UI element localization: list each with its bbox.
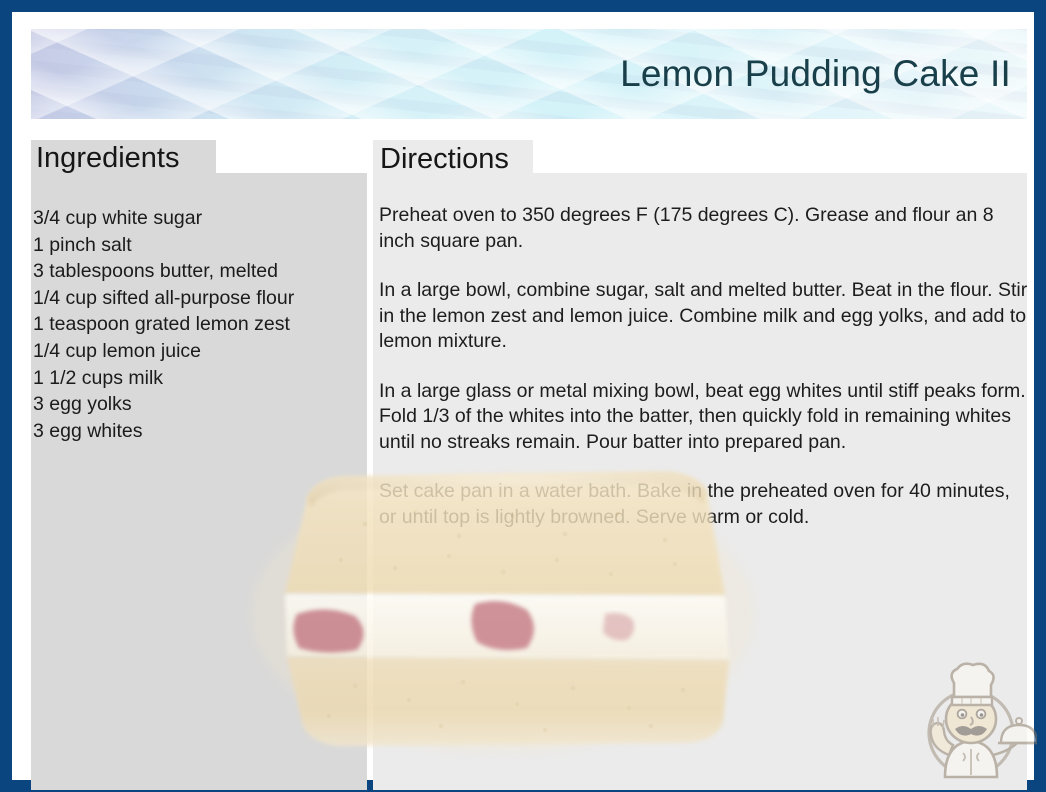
recipe-page: Lemon Pudding Cake II Ingredients 3/4 cu… [12, 12, 1034, 780]
list-item: 1 1/2 cups milk [33, 365, 358, 392]
list-item: 3 egg yolks [33, 391, 358, 418]
directions-steps: Preheat oven to 350 degrees F (175 degre… [379, 203, 1029, 554]
list-item: 3 egg whites [33, 418, 358, 445]
directions-heading: Directions [380, 142, 509, 176]
list-item: 1/4 cup lemon juice [33, 338, 358, 365]
list-item: 1 pinch salt [33, 232, 358, 259]
list-item: 3 tablespoons butter, melted [33, 258, 358, 285]
direction-step: Set cake pan in a water bath. Bake in th… [379, 479, 1029, 530]
direction-step: In a large glass or metal mixing bowl, b… [379, 379, 1029, 456]
list-item: 3/4 cup white sugar [33, 205, 358, 232]
list-item: 1/4 cup sifted all-purpose flour [33, 285, 358, 312]
ingredients-list: 3/4 cup white sugar 1 pinch salt 3 table… [33, 205, 358, 444]
title-banner: Lemon Pudding Cake II [31, 29, 1027, 119]
direction-step: In a large bowl, combine sugar, salt and… [379, 278, 1029, 355]
ingredients-heading: Ingredients [36, 141, 180, 175]
direction-step: Preheat oven to 350 degrees F (175 degre… [379, 203, 1029, 254]
list-item: 1 teaspoon grated lemon zest [33, 311, 358, 338]
chef-mascot-logo [905, 657, 1037, 789]
recipe-card: Lemon Pudding Cake II Ingredients 3/4 cu… [0, 0, 1046, 792]
recipe-title: Lemon Pudding Cake II [620, 53, 1011, 95]
